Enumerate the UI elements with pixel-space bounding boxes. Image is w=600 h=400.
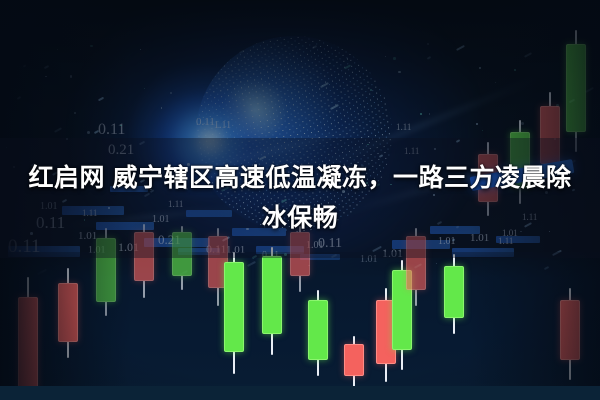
bottom-strip — [0, 386, 600, 400]
banner-image: 0.110.111.011.011.011.111.010.110.211.01… — [0, 0, 600, 400]
headline: 红启网 威宁辖区高速低温凝冻，一路三方凌晨除 冰保畅 — [0, 138, 600, 258]
headline-line-1: 红启网 威宁辖区高速低温凝冻，一路三方凌晨除 — [29, 161, 572, 195]
headline-line-2: 冰保畅 — [262, 201, 339, 235]
